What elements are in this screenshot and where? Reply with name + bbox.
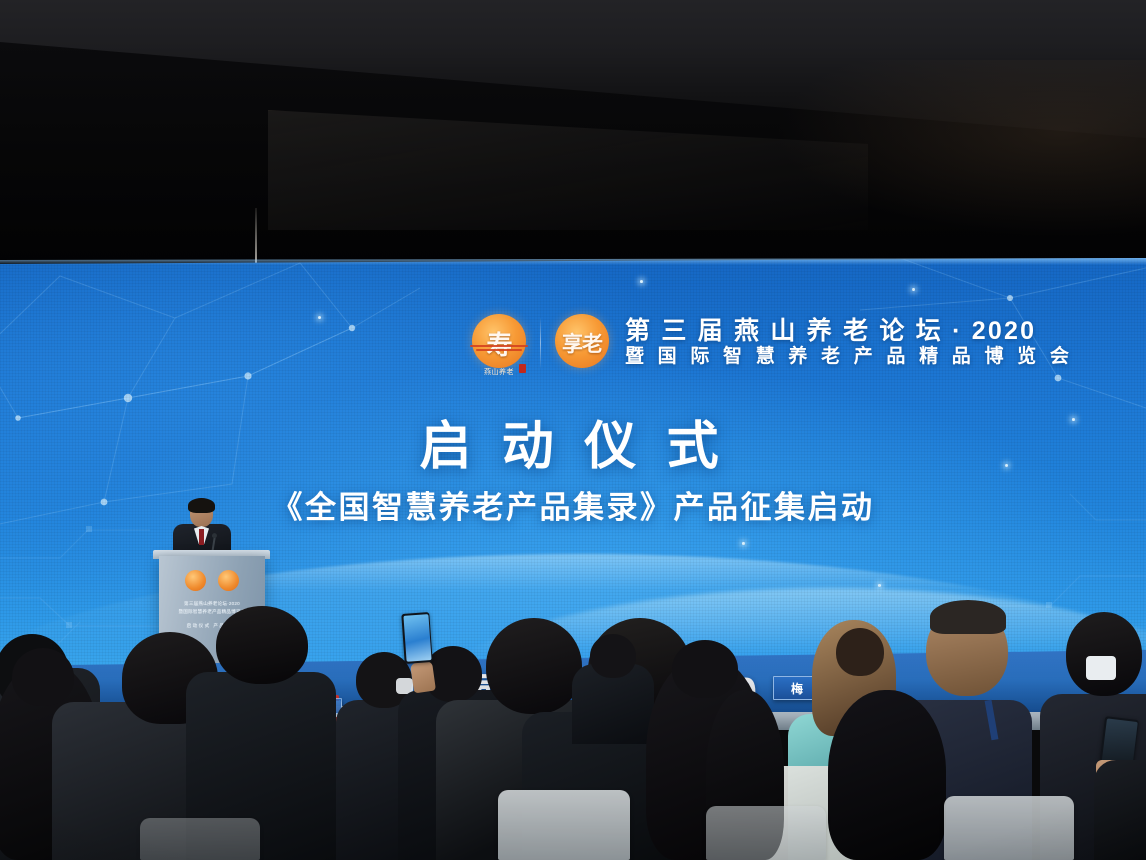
podium-logos	[159, 570, 265, 591]
hanging-cable	[255, 208, 257, 264]
podium-logo-icon	[185, 570, 206, 591]
screen-sparkle	[912, 288, 915, 291]
yanshan-pension-logo-icon: 寿 燕山养老	[468, 312, 530, 374]
ceremony-title: 启 动 仪 式	[0, 404, 1146, 479]
screen-sparkle	[318, 316, 321, 319]
screen-sparkle	[640, 280, 643, 283]
screen-sparkle	[878, 584, 881, 587]
hair	[930, 600, 1006, 634]
logo-red-stamp	[519, 364, 526, 373]
hand	[410, 661, 436, 694]
event-title-line1: 第 三 届 燕 山 养 老 论 坛 · 2020	[625, 317, 1073, 345]
podium-logo-icon	[218, 570, 239, 591]
speaker-tie	[199, 529, 204, 545]
event-logo-lockup: 寿 燕山养老 享老 第 三 届 燕 山 养 老 论 坛 · 2020 暨 国 际…	[468, 302, 938, 384]
logo-right-mark: 享老	[551, 312, 613, 374]
logo-wave-lines	[470, 342, 528, 358]
chair-back	[944, 796, 1074, 860]
chair-back	[498, 790, 630, 860]
xianglao-logo-icon: 享老	[551, 312, 613, 374]
conference-photo: 寿 燕山养老 享老 第 三 届 燕 山 养 老 论 坛 · 2020 暨 国 际…	[0, 0, 1146, 860]
ceiling-warm-glow	[766, 60, 1146, 240]
event-title-line2: 暨 国 际 智 慧 养 老 产 品 精 品 博 览 会	[625, 346, 1073, 368]
lockup-divider	[540, 317, 541, 369]
chair-back	[140, 818, 260, 860]
speaker-hair	[188, 498, 215, 513]
phone-screen	[403, 614, 431, 662]
smartphone[interactable]	[401, 612, 432, 664]
face-mask	[1086, 656, 1116, 680]
chair-back	[706, 806, 826, 860]
screen-sparkle	[742, 542, 745, 545]
event-title-block: 第 三 届 燕 山 养 老 论 坛 · 2020 暨 国 际 智 慧 养 老 产…	[623, 317, 1073, 368]
